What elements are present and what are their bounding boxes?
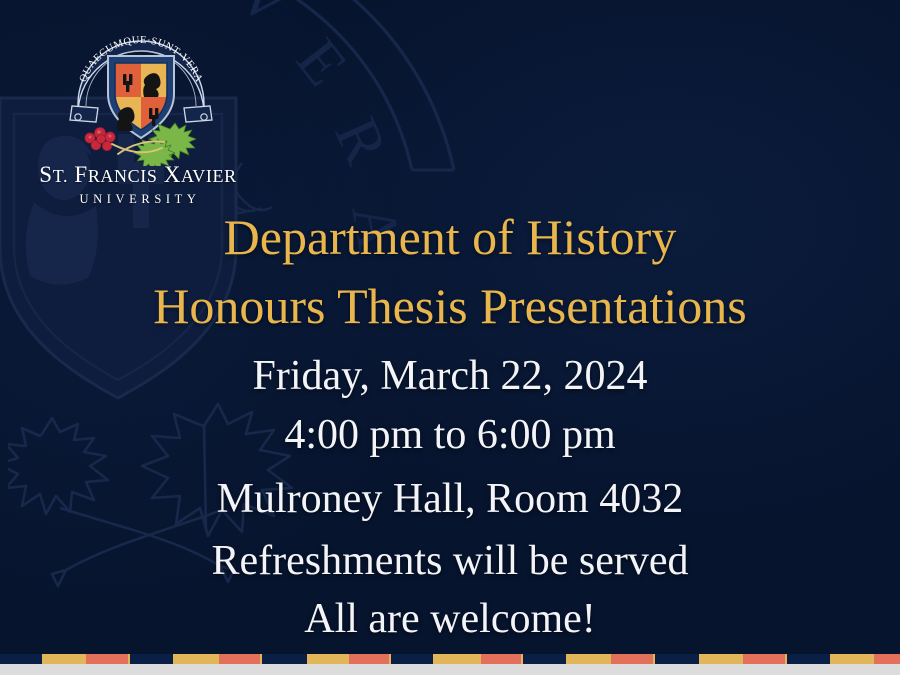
footer-strip-segment bbox=[435, 654, 479, 664]
footer-strip-segment bbox=[832, 654, 872, 664]
footer-strip-segment bbox=[611, 654, 653, 664]
footer-bottom-padding bbox=[0, 664, 900, 675]
footer-strip-segment bbox=[86, 654, 128, 664]
footer-strip-segment bbox=[701, 654, 741, 664]
stfx-wordmark: ST. FRANCIS XAVIER UNIVERSITY bbox=[18, 162, 258, 207]
event-poster-slide: V E R A bbox=[0, 0, 900, 675]
footer-strip-segment bbox=[130, 654, 173, 664]
footer-strip-segment bbox=[175, 654, 217, 664]
crest-rose-sprig bbox=[85, 127, 115, 150]
footer-strip-segment bbox=[743, 654, 785, 664]
footer-strip-segment bbox=[655, 654, 699, 664]
footer-strip-segment bbox=[0, 654, 42, 664]
footer-strip-segment bbox=[787, 654, 830, 664]
svg-text:E: E bbox=[283, 27, 360, 99]
page-title-line-1: Department of History bbox=[0, 212, 900, 262]
footer-strip-segment bbox=[391, 654, 433, 664]
footer-strip-segment bbox=[349, 654, 389, 664]
page-title-line-2: Honours Thesis Presentations bbox=[0, 281, 900, 331]
footer-strip-segment bbox=[262, 654, 307, 664]
welcome-note: All are welcome! bbox=[0, 598, 900, 640]
footer-strip-segment bbox=[44, 654, 84, 664]
stfx-crest-logo: QUAECUMQUE·SUNT·VERA bbox=[66, 16, 216, 166]
event-time: 4:00 pm to 6:00 pm bbox=[0, 414, 900, 456]
footer-strip-segment bbox=[309, 654, 347, 664]
wordmark-line-2: UNIVERSITY bbox=[18, 192, 258, 207]
footer-strip-segment bbox=[523, 654, 566, 664]
footer-strip-segment bbox=[481, 654, 521, 664]
event-location: Mulroney Hall, Room 4032 bbox=[0, 478, 900, 520]
refreshments-note: Refreshments will be served bbox=[0, 540, 900, 582]
svg-text:V: V bbox=[225, 0, 303, 40]
footer-color-strip bbox=[0, 654, 900, 664]
wordmark-line-1: ST. FRANCIS XAVIER bbox=[18, 162, 258, 188]
svg-text:R: R bbox=[321, 108, 400, 174]
event-date: Friday, March 22, 2024 bbox=[0, 355, 900, 397]
footer-strip-segment bbox=[219, 654, 260, 664]
slide-background: V E R A bbox=[0, 0, 900, 655]
footer-strip-segment bbox=[874, 654, 900, 664]
footer-strip-segment bbox=[568, 654, 609, 664]
